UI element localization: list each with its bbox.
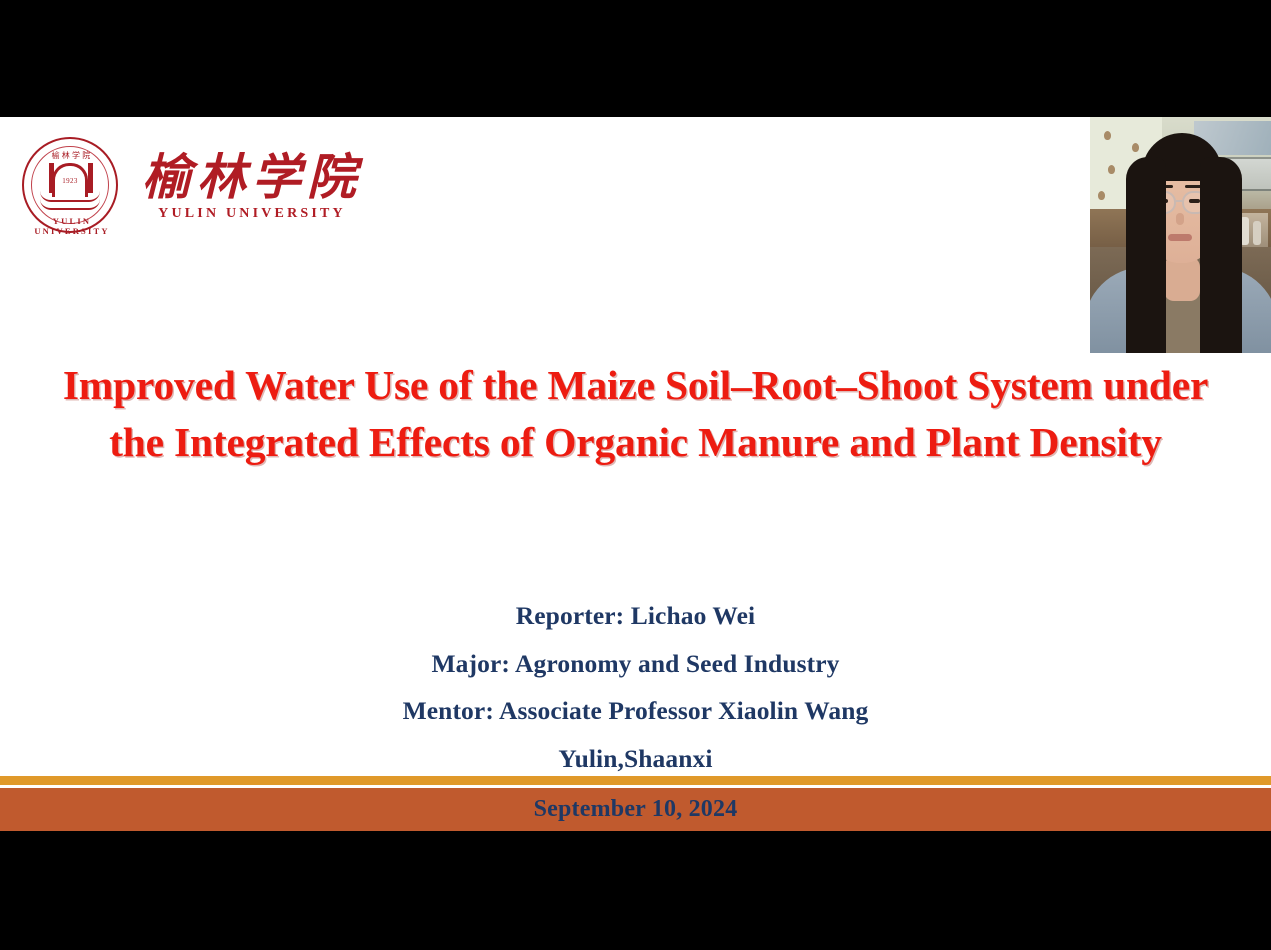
presenter-hair-right bbox=[1200, 157, 1242, 353]
wordmark-english: YULIN UNIVERSITY bbox=[142, 206, 362, 222]
slide-title-line-1: Improved Water Use of the Maize Soil–Roo… bbox=[0, 357, 1271, 414]
presenter-webcam-overlay[interactable] bbox=[1090, 117, 1271, 353]
curtain-pattern-dot bbox=[1132, 143, 1139, 152]
mentor-line: Mentor: Associate Professor Xiaolin Wang bbox=[0, 687, 1271, 735]
presenter-info-block: Reporter: Lichao Wei Major: Agronomy and… bbox=[0, 592, 1271, 782]
presenter-nose bbox=[1176, 213, 1184, 225]
webcam-background-bottle bbox=[1253, 221, 1261, 245]
seal-gate-column-left bbox=[49, 163, 54, 193]
presentation-date: September 10, 2024 bbox=[0, 788, 1271, 831]
location-line: Yulin,Shaanxi bbox=[0, 735, 1271, 783]
letterbox-bar-top bbox=[0, 0, 1271, 117]
seal-wave-lower bbox=[40, 199, 100, 210]
presenter-mouth bbox=[1168, 234, 1192, 241]
reporter-line: Reporter: Lichao Wei bbox=[0, 592, 1271, 640]
presenter-hair-left bbox=[1126, 157, 1166, 353]
university-wordmark: 榆林学院 YULIN UNIVERSITY bbox=[142, 152, 362, 222]
wordmark-chinese: 榆林学院 bbox=[142, 152, 362, 203]
seal-founding-year: 1923 bbox=[56, 177, 84, 185]
letterbox-bar-bottom bbox=[0, 831, 1271, 950]
curtain-pattern-dot bbox=[1104, 131, 1111, 140]
curtain-pattern-dot bbox=[1108, 165, 1115, 174]
seal-bottom-text: YULIN UNIVERSITY bbox=[18, 216, 126, 236]
university-seal-icon: 榆林学院 1923 YULIN UNIVERSITY bbox=[18, 133, 126, 241]
footer-gold-stripe bbox=[0, 776, 1271, 785]
presenter-neck bbox=[1164, 257, 1200, 301]
presenter-eye-right bbox=[1189, 199, 1200, 203]
slide-title-line-2: the Integrated Effects of Organic Manure… bbox=[0, 414, 1271, 471]
major-line: Major: Agronomy and Seed Industry bbox=[0, 640, 1271, 688]
slide-title: Improved Water Use of the Maize Soil–Roo… bbox=[0, 357, 1271, 471]
presenter-eyeglasses-bridge bbox=[1176, 200, 1182, 202]
seal-gate-column-right bbox=[88, 163, 93, 193]
seal-top-characters: 榆林学院 bbox=[18, 150, 126, 161]
university-logo-lockup: 榆林学院 1923 YULIN UNIVERSITY 榆林学院 YULIN UN… bbox=[18, 132, 368, 242]
curtain-pattern-dot bbox=[1098, 191, 1105, 200]
screen-recording-frame: 榆林学院 1923 YULIN UNIVERSITY 榆林学院 YULIN UN… bbox=[0, 0, 1271, 950]
presentation-slide: 榆林学院 1923 YULIN UNIVERSITY 榆林学院 YULIN UN… bbox=[0, 117, 1271, 831]
